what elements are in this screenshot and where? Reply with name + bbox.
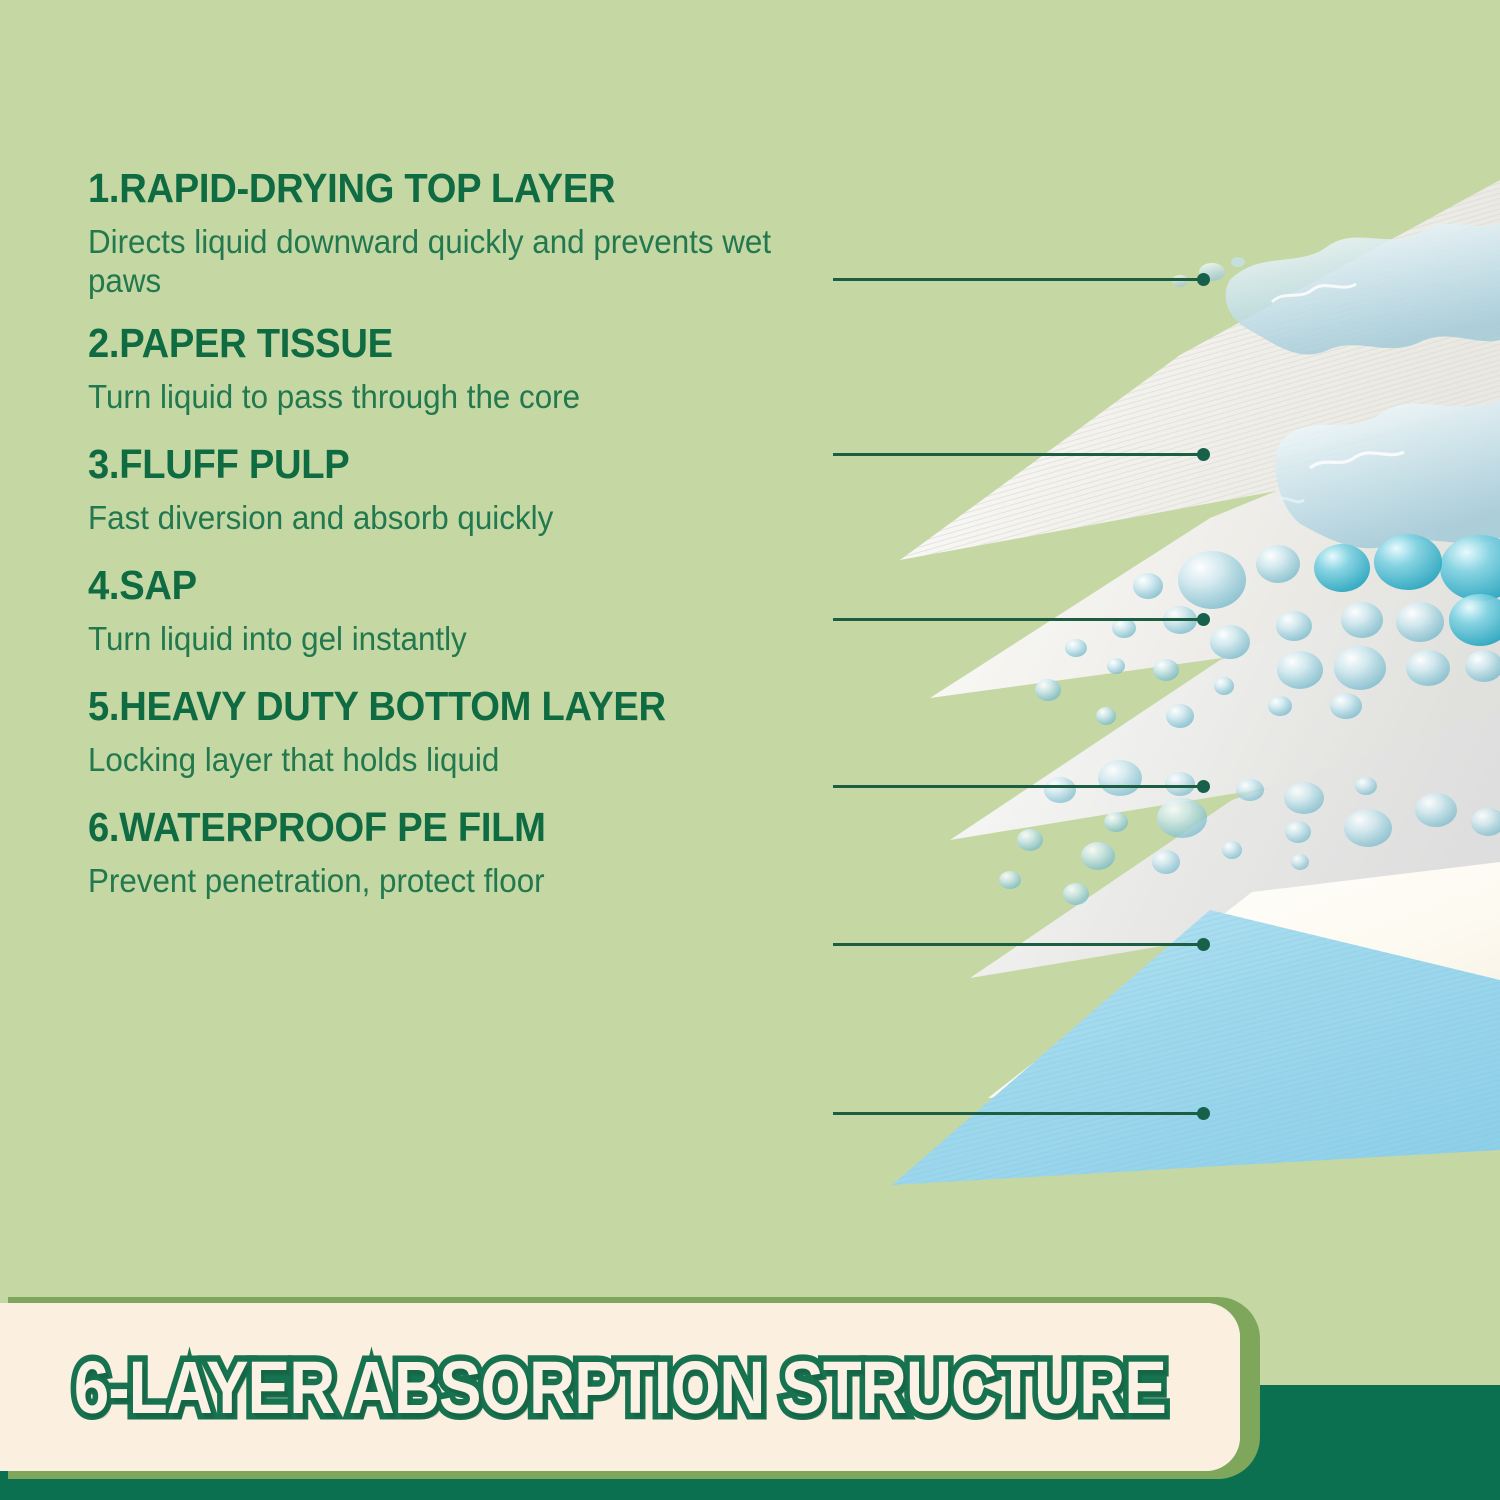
layer-title-2: 2.PAPER TISSUE — [88, 323, 767, 365]
layer-description-list: 1.RAPID-DRYING TOP LAYER Directs liquid … — [88, 168, 818, 900]
leader-dot-4 — [1197, 780, 1210, 793]
leader-line-2 — [833, 453, 1205, 456]
layer-title-1: 1.RAPID-DRYING TOP LAYER — [88, 168, 767, 210]
layer-title-3: 3.FLUFF PULP — [88, 444, 767, 486]
layer-title-6: 6.WATERPROOF PE FILM — [88, 807, 767, 849]
layer-item-5: 5.HEAVY DUTY BOTTOM LAYER Locking layer … — [88, 686, 818, 780]
layer-description-1: Directs liquid downward quickly and prev… — [88, 223, 782, 301]
layer-description-4: Turn liquid into gel instantly — [88, 620, 782, 659]
banner-plate — [0, 1303, 1240, 1471]
layer-item-6: 6.WATERPROOF PE FILM Prevent penetration… — [88, 807, 818, 901]
layer-description-2: Turn liquid to pass through the core — [88, 378, 782, 417]
layer-item-4: 4.SAP Turn liquid into gel instantly — [88, 565, 818, 659]
leader-line-3 — [833, 618, 1205, 621]
layer-description-6: Prevent penetration, protect floor — [88, 862, 782, 901]
leader-dot-1 — [1197, 273, 1210, 286]
leader-dot-5 — [1197, 938, 1210, 951]
layer-item-3: 3.FLUFF PULP Fast diversion and absorb q… — [88, 444, 818, 538]
layer-title-4: 4.SAP — [88, 565, 767, 607]
layer-title-5: 5.HEAVY DUTY BOTTOM LAYER — [88, 686, 767, 728]
layer-description-5: Locking layer that holds liquid — [88, 741, 782, 780]
leader-dot-3 — [1197, 613, 1210, 626]
layer-description-3: Fast diversion and absorb quickly — [88, 499, 782, 538]
leader-line-5 — [833, 943, 1205, 946]
leader-dot-2 — [1197, 448, 1210, 461]
layer-item-2: 2.PAPER TISSUE Turn liquid to pass throu… — [88, 323, 818, 417]
layer-item-1: 1.RAPID-DRYING TOP LAYER Directs liquid … — [88, 168, 818, 301]
leader-line-1 — [833, 278, 1205, 281]
layer-stack-illustration — [880, 150, 1500, 1210]
infographic-root: 1.RAPID-DRYING TOP LAYER Directs liquid … — [0, 0, 1500, 1500]
leader-line-6 — [833, 1112, 1205, 1115]
leader-line-4 — [833, 785, 1205, 788]
leader-dot-6 — [1197, 1107, 1210, 1120]
